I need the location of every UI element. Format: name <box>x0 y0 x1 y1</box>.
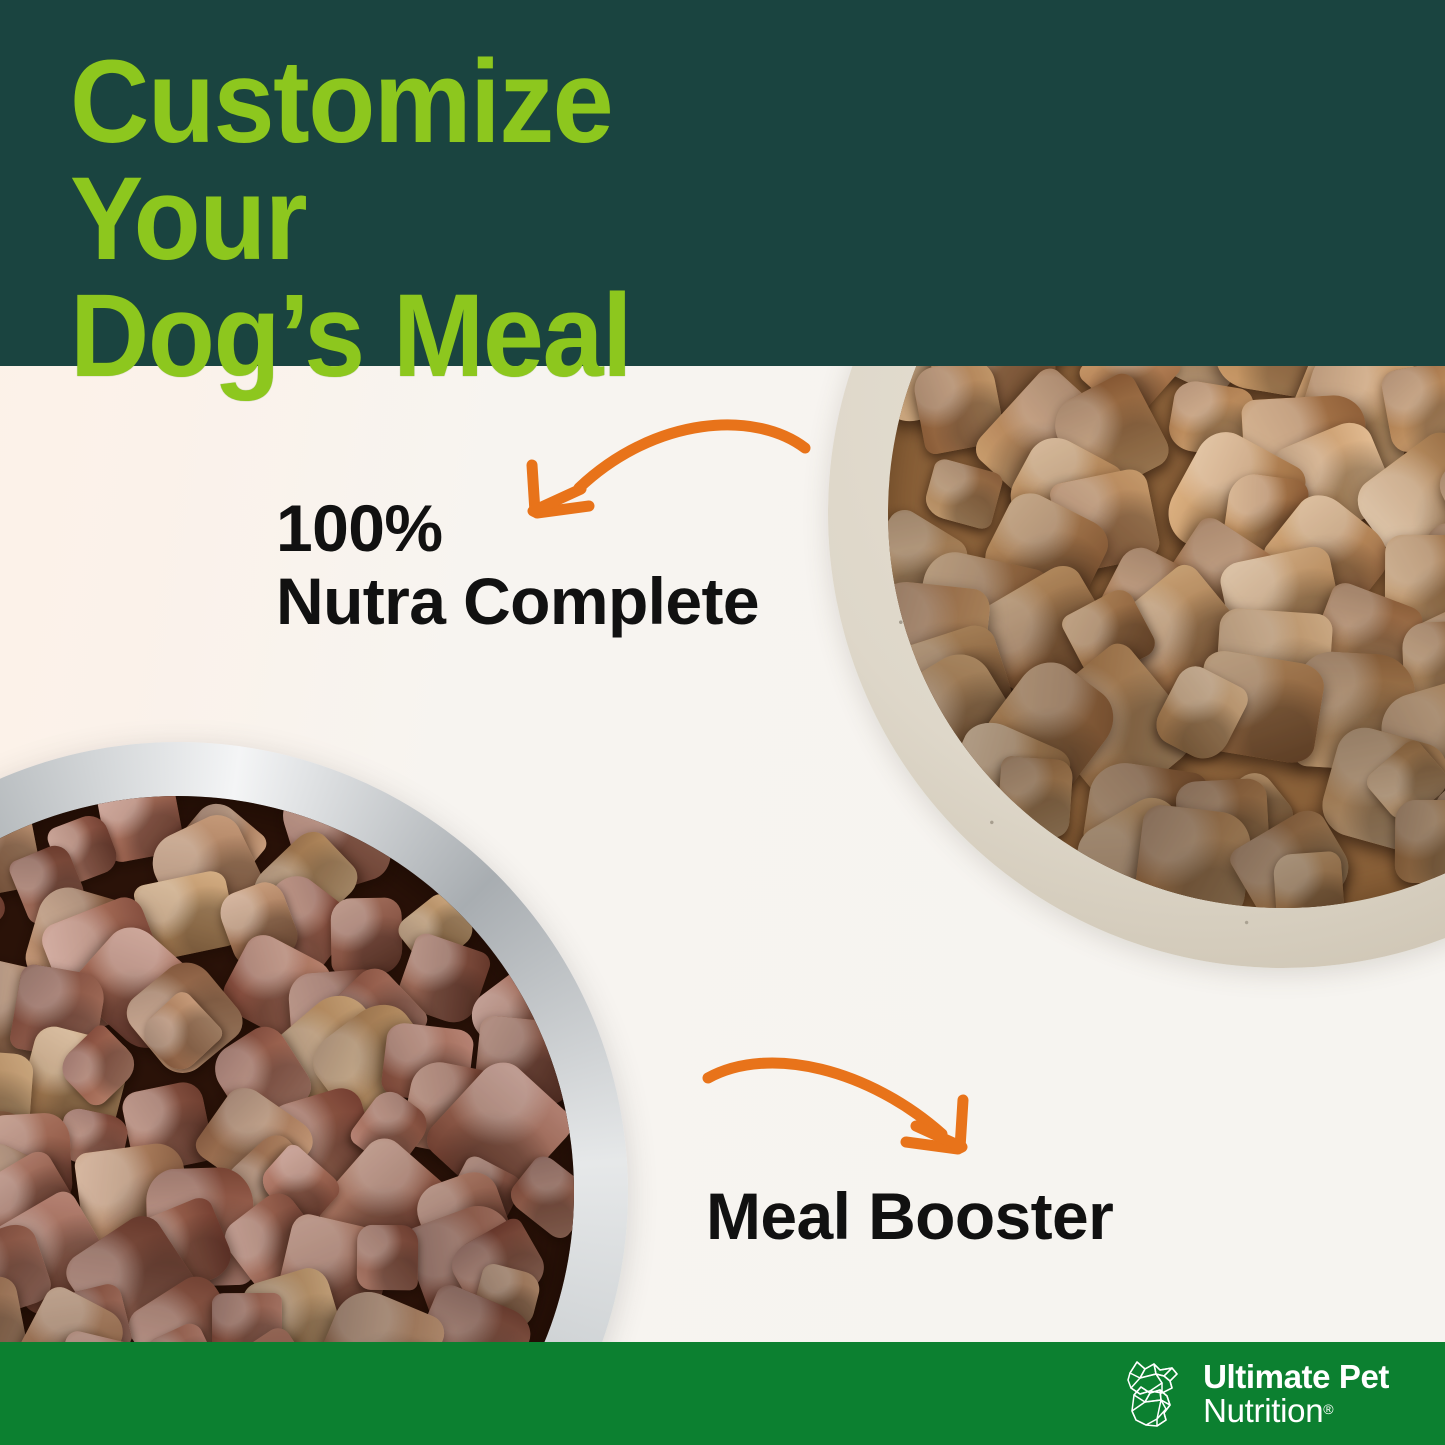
food-piece <box>331 897 403 975</box>
curved-arrow-down-right-icon <box>660 1048 1000 1188</box>
steel-bowl <box>0 742 628 1445</box>
registered-mark: ® <box>1323 1401 1333 1417</box>
callout-nutra-line-1: 100% <box>276 492 896 565</box>
brand-name-nutrition: Nutrition <box>1203 1392 1323 1429</box>
callout-nutra-line-2: Nutra Complete <box>276 565 896 638</box>
brand-name-line-2: Nutrition® <box>1203 1394 1389 1428</box>
headline-line-1: Customize Your <box>70 36 612 285</box>
food-piece <box>1272 851 1345 908</box>
brand-name-line-1: Ultimate Pet <box>1203 1360 1389 1394</box>
page-title: Customize Your Dog’s Meal <box>70 44 870 394</box>
callout-nutra-complete: 100% Nutra Complete <box>276 492 896 637</box>
header-band: Customize Your Dog’s Meal <box>0 0 1445 366</box>
brand-logo: Ultimate Pet Nutrition® <box>1120 1357 1389 1431</box>
food-piece <box>356 1225 417 1290</box>
promo-image-canvas: Customize Your Dog’s Meal 100% Nutra Com… <box>0 0 1445 1445</box>
headline-line-2: Dog’s Meal <box>70 278 870 395</box>
low-poly-cat-and-dog-head-icon <box>1120 1357 1186 1431</box>
brand-logo-text: Ultimate Pet Nutrition® <box>1203 1360 1389 1427</box>
food-piece <box>1395 800 1445 883</box>
footer-bar: Ultimate Pet Nutrition® <box>0 1342 1445 1445</box>
callout-meal-booster: Meal Booster <box>706 1180 1326 1253</box>
food-piece <box>996 756 1073 839</box>
